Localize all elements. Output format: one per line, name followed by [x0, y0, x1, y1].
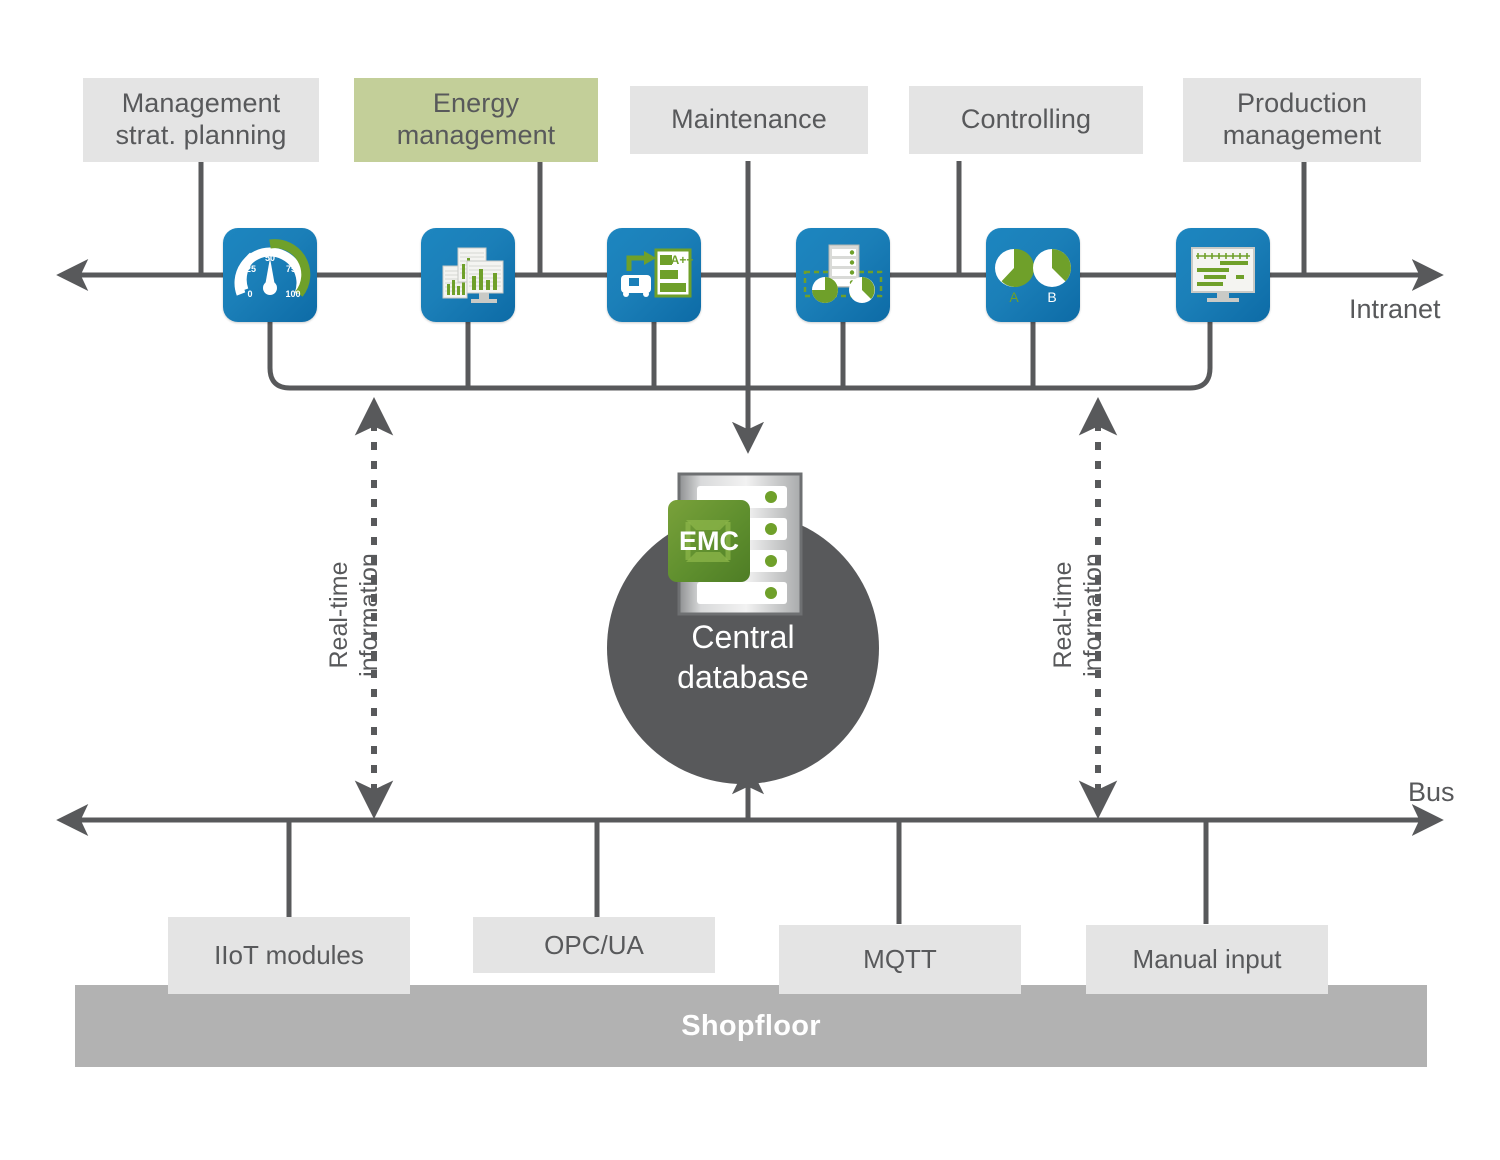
reports-monitor-icon: [421, 228, 515, 322]
source-box-mqtt[interactable]: MQTT: [779, 925, 1021, 994]
svg-text:B: B: [1047, 289, 1056, 305]
app-icon-efficiency[interactable]: A++: [607, 228, 701, 322]
app-icon-comparison[interactable]: A B: [986, 228, 1080, 322]
source-box-manual[interactable]: Manual input: [1086, 925, 1328, 994]
dept-box-maintenance[interactable]: Maintenance: [630, 86, 868, 154]
bus-label: Bus: [1408, 777, 1455, 808]
pie-comparison-icon: A B: [986, 228, 1080, 322]
emc-badge[interactable]: EMC: [668, 500, 750, 582]
source-label-manual: Manual input: [1133, 944, 1282, 975]
realtime-label-left: Real-time information: [324, 485, 384, 745]
app-icon-gauge[interactable]: 50 25 75 0 100: [223, 228, 317, 322]
diagram-canvas: Management strat. planning Energy manage…: [0, 0, 1500, 1160]
shopfloor-label: Shopfloor: [681, 1010, 821, 1043]
server-pie-icon: [796, 228, 890, 322]
dept-stems: [201, 161, 1304, 275]
dept-label-management: Management strat. planning: [115, 88, 286, 152]
source-label-iiot: IIoT modules: [214, 940, 364, 971]
dept-label-maintenance: Maintenance: [671, 104, 827, 136]
shopfloor-bar: Shopfloor: [75, 985, 1427, 1067]
svg-text:25: 25: [246, 264, 256, 274]
dept-label-production-management: Production management: [1223, 88, 1382, 152]
svg-text:A++: A++: [671, 253, 694, 267]
intranet-label: Intranet: [1349, 294, 1441, 325]
emc-badge-text: EMC: [679, 526, 739, 556]
source-stems: [289, 820, 1206, 924]
icon-dropline-bus: [270, 322, 1210, 388]
gantt-monitor-icon: [1176, 228, 1270, 322]
dept-box-production-management[interactable]: Production management: [1183, 78, 1421, 162]
svg-text:A: A: [1009, 289, 1019, 305]
source-label-opcua: OPC/UA: [544, 930, 644, 961]
dept-box-energy-management[interactable]: Energy management: [354, 78, 598, 162]
app-icon-reports[interactable]: [421, 228, 515, 322]
realtime-label-right: Real-time information: [1048, 485, 1108, 745]
svg-text:0: 0: [247, 289, 252, 299]
emc-logo-icon: EMC: [668, 500, 750, 582]
app-icon-gantt[interactable]: [1176, 228, 1270, 322]
dept-label-controlling: Controlling: [961, 104, 1091, 136]
gauge-icon: 50 25 75 0 100: [223, 228, 317, 322]
source-box-opcua[interactable]: OPC/UA: [473, 917, 715, 973]
energy-label-icon: A++: [607, 228, 701, 322]
dept-box-controlling[interactable]: Controlling: [909, 86, 1143, 154]
dept-box-management[interactable]: Management strat. planning: [83, 78, 319, 162]
svg-text:75: 75: [286, 264, 296, 274]
source-label-mqtt: MQTT: [863, 944, 937, 975]
dept-label-energy-management: Energy management: [397, 88, 556, 152]
source-box-iiot[interactable]: IIoT modules: [168, 917, 410, 994]
app-icon-server-analysis[interactable]: [796, 228, 890, 322]
svg-text:100: 100: [285, 289, 300, 299]
